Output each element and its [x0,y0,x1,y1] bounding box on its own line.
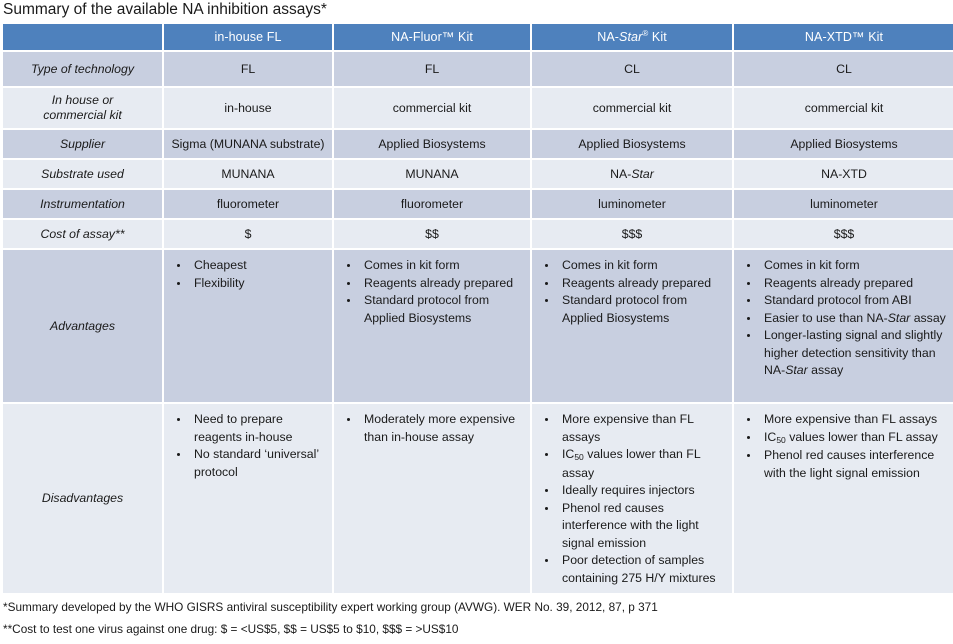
table-row: Supplier Sigma (MUNANA substrate) Applie… [3,130,953,158]
cell-cost-inhouse-fl: $ [164,220,332,248]
row-label-cost-of-assay: Cost of assay** [3,220,162,248]
table-row: Type of technology FL FL CL CL [3,52,953,86]
cell-advantages-na-star: Comes in kit form Reagents already prepa… [532,250,732,402]
row-label-instrumentation: Instrumentation [3,190,162,218]
cell-advantages-inhouse-fl: Cheapest Flexibility [164,250,332,402]
cell-tech-na-fluor: FL [334,52,530,86]
list-item: Longer-lasting signal and slightly highe… [760,327,948,380]
cell-kit-na-star: commercial kit [532,88,732,128]
list-item: Comes in kit form [760,257,948,275]
list-item: Reagents already prepared [360,275,524,293]
cell-cost-na-fluor: $$ [334,220,530,248]
cell-supplier-inhouse-fl: Sigma (MUNANA substrate) [164,130,332,158]
cell-kit-inhouse-fl: in-house [164,88,332,128]
column-header-inhouse-fl: in-house FL [164,24,332,50]
cell-cost-na-xtd: $$$ [734,220,953,248]
table-row: Instrumentation fluorometer fluorometer … [3,190,953,218]
slide-root: Summary of the available NA inhibition a… [0,0,953,644]
cell-disadvantages-na-star: More expensive than FL assays IC50 value… [532,404,732,593]
row-label-advantages: Advantages [3,250,162,402]
table-row: Advantages Cheapest Flexibility Comes in… [3,250,953,402]
cell-instr-na-fluor: fluorometer [334,190,530,218]
cell-disadvantages-na-fluor: Moderately more expensive than in-house … [334,404,530,593]
list-item: Poor detection of samples containing 275… [558,552,726,587]
list-item: No standard ‘universal’ protocol [190,446,326,481]
cell-kit-na-fluor: commercial kit [334,88,530,128]
list-item: Ideally requires injectors [558,482,726,500]
list-item: Comes in kit form [558,257,726,275]
row-label-supplier: Supplier [3,130,162,158]
page-title: Summary of the available NA inhibition a… [3,0,327,20]
cell-disadvantages-inhouse-fl: Need to prepare reagents in-house No sta… [164,404,332,593]
list-item: More expensive than FL assays [760,411,948,429]
cell-kit-na-xtd: commercial kit [734,88,953,128]
list-item: Moderately more expensive than in-house … [360,411,524,446]
table-row: Disadvantages Need to prepare reagents i… [3,404,953,593]
row-label-substrate-used: Substrate used [3,160,162,188]
cell-instr-inhouse-fl: fluorometer [164,190,332,218]
list-item: Reagents already prepared [760,275,948,293]
cell-cost-na-star: $$$ [532,220,732,248]
cell-substrate-na-xtd: NA-XTD [734,160,953,188]
list-item: Comes in kit form [360,257,524,275]
table-row: In house orcommercial kit in-house comme… [3,88,953,128]
assay-comparison-table: in-house FL NA-Fluor™ Kit NA-Star® Kit N… [1,22,953,595]
cell-instr-na-star: luminometer [532,190,732,218]
list-item: Cheapest [190,257,326,275]
list-item: Reagents already prepared [558,275,726,293]
cell-supplier-na-xtd: Applied Biosystems [734,130,953,158]
list-item: Need to prepare reagents in-house [190,411,326,446]
footnote-summary-source: *Summary developed by the WHO GISRS anti… [3,600,658,614]
list-item: Standard protocol from ABI [760,292,948,310]
cell-advantages-na-fluor: Comes in kit form Reagents already prepa… [334,250,530,402]
table-header-row: in-house FL NA-Fluor™ Kit NA-Star® Kit N… [3,24,953,50]
row-label-in-house-or-commercial-kit: In house orcommercial kit [3,88,162,128]
table-row: Substrate used MUNANA MUNANA NA-Star NA-… [3,160,953,188]
list-item: More expensive than FL assays [558,411,726,446]
cell-tech-inhouse-fl: FL [164,52,332,86]
cell-supplier-na-fluor: Applied Biosystems [334,130,530,158]
list-item: IC50 values lower than FL assay [760,429,948,448]
list-item: Standard protocol from Applied Biosystem… [558,292,726,327]
list-item: Easier to use than NA-Star assay [760,310,948,328]
cell-substrate-inhouse-fl: MUNANA [164,160,332,188]
footnote-cost-legend: **Cost to test one virus against one dru… [3,622,458,636]
list-item: Phenol red causes interference with the … [558,500,726,553]
cell-tech-na-xtd: CL [734,52,953,86]
cell-instr-na-xtd: luminometer [734,190,953,218]
row-label-disadvantages: Disadvantages [3,404,162,593]
list-item: Standard protocol from Applied Biosystem… [360,292,524,327]
cell-advantages-na-xtd: Comes in kit form Reagents already prepa… [734,250,953,402]
column-header-na-star: NA-Star® Kit [532,24,732,50]
cell-substrate-na-star: NA-Star [532,160,732,188]
list-item: Flexibility [190,275,326,293]
cell-supplier-na-star: Applied Biosystems [532,130,732,158]
list-item: Phenol red causes interference with the … [760,447,948,482]
table-row: Cost of assay** $ $$ $$$ $$$ [3,220,953,248]
cell-tech-na-star: CL [532,52,732,86]
cell-substrate-na-fluor: MUNANA [334,160,530,188]
list-item: IC50 values lower than FL assay [558,446,726,482]
cell-disadvantages-na-xtd: More expensive than FL assays IC50 value… [734,404,953,593]
row-label-type-of-technology: Type of technology [3,52,162,86]
header-corner-cell [3,24,162,50]
column-header-na-xtd: NA-XTD™ Kit [734,24,953,50]
column-header-na-fluor: NA-Fluor™ Kit [334,24,530,50]
